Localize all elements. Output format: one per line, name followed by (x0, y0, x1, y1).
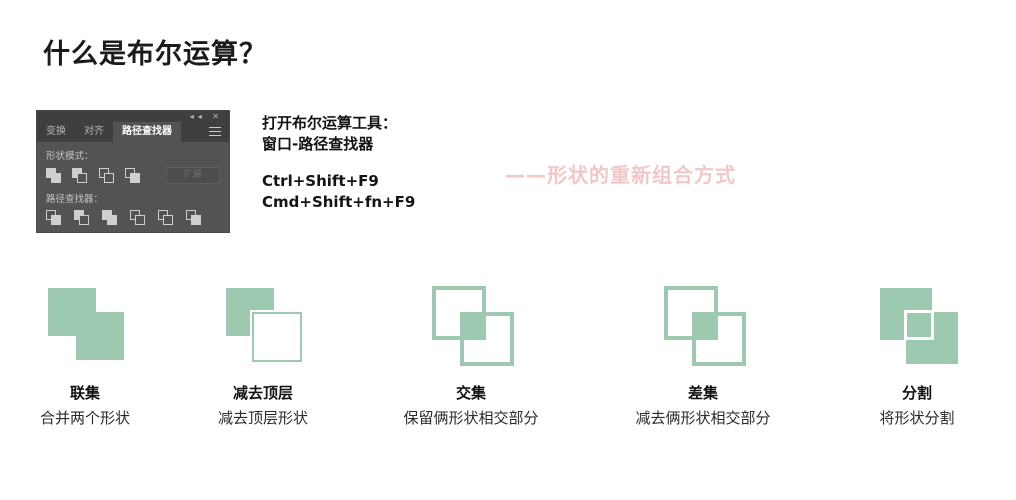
minus-front-diagram (208, 280, 318, 370)
operation-intersect: 交集 保留俩形状相交部分 (381, 280, 561, 428)
pathfinder-panel: ◂◂ ✕ 变换 对齐 路径查找器 形状模式： 扩展 路径查找器： (37, 111, 229, 232)
operation-minus-front: 减去顶层 减去顶层形状 (173, 280, 353, 428)
tab-transform[interactable]: 变换 (37, 122, 75, 142)
operation-desc: 保留俩形状相交部分 (381, 407, 561, 428)
operations-row: 联集 合并两个形状 减去顶层 减去顶层形状 交集 保留俩形状相交部分 差集 减去… (0, 280, 1016, 440)
unite-icon[interactable] (46, 168, 59, 183)
pathfinders-row (46, 210, 220, 225)
panel-window-controls[interactable]: ◂◂ ✕ (190, 111, 223, 122)
operation-title: 差集 (613, 382, 793, 403)
shortcut-mac: Cmd+Shift+fn+F9 (262, 192, 415, 213)
divide-icon[interactable] (46, 210, 61, 225)
exclude-icon[interactable] (125, 168, 138, 183)
exclude-diagram (648, 280, 758, 370)
tab-pathfinder[interactable]: 路径查找器 (113, 122, 181, 142)
tab-align[interactable]: 对齐 (75, 122, 113, 142)
operation-title: 分割 (827, 382, 1007, 403)
crop-icon[interactable] (130, 210, 145, 225)
operation-desc: 减去俩形状相交部分 (613, 407, 793, 428)
annotation-text: ——形状的重新组合方式 (505, 159, 736, 188)
operation-unite: 联集 合并两个形状 (0, 280, 175, 428)
operation-desc: 将形状分割 (827, 407, 1007, 428)
pathfinders-label: 路径查找器： (46, 191, 220, 205)
panel-tab-strip: 变换 对齐 路径查找器 (37, 122, 229, 142)
expand-button[interactable]: 扩展 (166, 167, 220, 184)
page-title: 什么是布尔运算？ (43, 32, 267, 71)
instructions-spacer (262, 155, 415, 171)
operation-title: 交集 (381, 382, 561, 403)
outline-icon[interactable] (158, 210, 173, 225)
operation-divide: 分割 将形状分割 (827, 280, 1007, 428)
panel-titlebar: ◂◂ ✕ (37, 111, 229, 122)
operation-exclude: 差集 减去俩形状相交部分 (613, 280, 793, 428)
operation-desc: 合并两个形状 (0, 407, 175, 428)
shortcut-windows: Ctrl+Shift+F9 (262, 171, 415, 192)
operation-title: 联集 (0, 382, 175, 403)
minus-back-icon[interactable] (186, 210, 201, 225)
operation-desc: 减去顶层形状 (173, 407, 353, 428)
shape-modes-row: 扩展 (46, 167, 220, 184)
instruction-line-open-tool: 打开布尔运算工具： (262, 113, 415, 134)
hamburger-menu-icon[interactable] (209, 127, 221, 136)
merge-icon[interactable] (102, 210, 117, 225)
unite-diagram (30, 280, 140, 370)
panel-body: 形状模式： 扩展 路径查找器： (37, 142, 229, 225)
divide-diagram (862, 280, 972, 370)
intersect-diagram (416, 280, 526, 370)
minus-front-icon[interactable] (72, 168, 85, 183)
intersect-icon[interactable] (99, 168, 112, 183)
instruction-line-menu-path: 窗口-路径查找器 (262, 134, 415, 155)
shape-modes-label: 形状模式： (46, 148, 220, 162)
operation-title: 减去顶层 (173, 382, 353, 403)
trim-icon[interactable] (74, 210, 89, 225)
instructions-block: 打开布尔运算工具： 窗口-路径查找器 Ctrl+Shift+F9 Cmd+Shi… (262, 113, 415, 213)
